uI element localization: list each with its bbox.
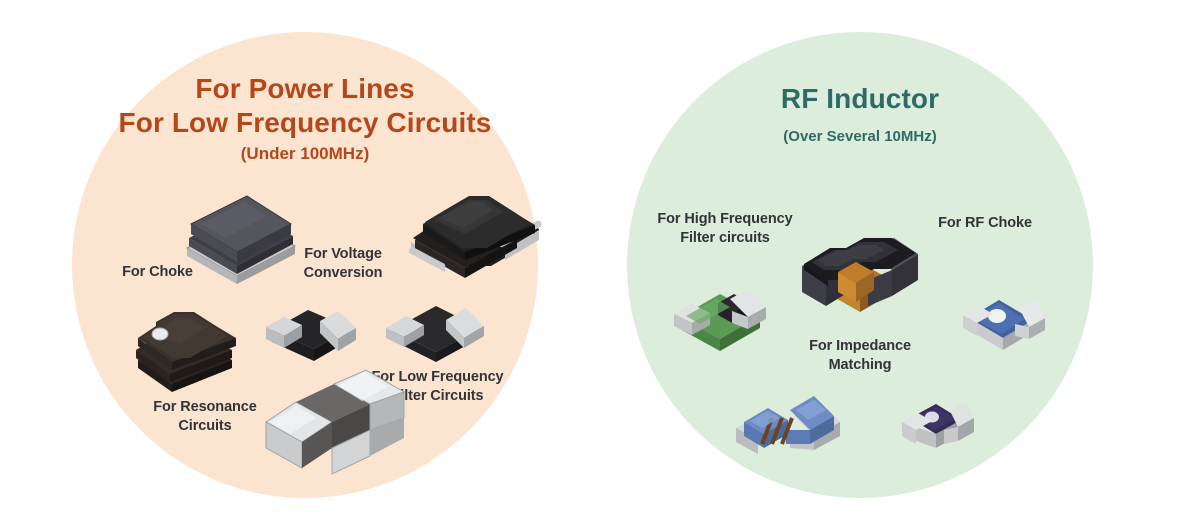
part-molded-power-inductor	[405, 168, 553, 290]
label-for-voltage-conversion: For Voltage Conversion	[278, 245, 408, 283]
label-resonance-line1: For Resonance	[135, 398, 275, 417]
part-purple-top-chip	[888, 392, 980, 460]
part-low-frequency-filter-chip	[380, 298, 488, 364]
power-lines-title-line1: For Power Lines	[115, 72, 495, 106]
part-blue-top-chip	[953, 288, 1049, 364]
label-voltage-line1: For Voltage	[278, 245, 408, 264]
power-lines-title: For Power Lines For Low Frequency Circui…	[115, 72, 495, 140]
power-lines-subtitle: (Under 100MHz)	[115, 144, 495, 164]
power-lines-title-line2: For Low Frequency Circuits	[115, 106, 495, 140]
rf-inductor-subtitle: (Over Several 10MHz)	[690, 128, 1030, 145]
label-resonance-line2: Circuits	[135, 417, 275, 436]
part-wirewound-chip-inductor	[788, 228, 922, 320]
label-for-rf-choke: For RF Choke	[920, 214, 1050, 233]
diagram-canvas: For Power Lines For Low Frequency Circui…	[0, 0, 1200, 530]
label-for-impedance-matching: For Impedance Matching	[780, 337, 940, 375]
label-impedance-line2: Matching	[780, 356, 940, 375]
label-voltage-line2: Conversion	[278, 264, 408, 283]
part-blue-wirewound-inductor	[728, 388, 846, 472]
label-hff-line1: For High Frequency	[640, 210, 810, 229]
label-for-choke: For Choke	[95, 263, 220, 282]
part-multilayer-chip-inductor	[258, 372, 418, 480]
label-hff-line2: Filter circuits	[640, 229, 810, 248]
rf-inductor-title-line1: RF Inductor	[690, 82, 1030, 116]
label-for-resonance-circuits: For Resonance Circuits	[135, 398, 275, 436]
label-for-high-frequency-filter-circuits: For High Frequency Filter circuits	[640, 210, 810, 248]
part-green-chip-inductor	[668, 283, 770, 355]
part-small-chip-inductor	[262, 300, 358, 366]
label-impedance-line1: For Impedance	[780, 337, 940, 356]
part-shielded-power-inductor	[128, 298, 254, 394]
rf-inductor-title: RF Inductor	[690, 82, 1030, 116]
